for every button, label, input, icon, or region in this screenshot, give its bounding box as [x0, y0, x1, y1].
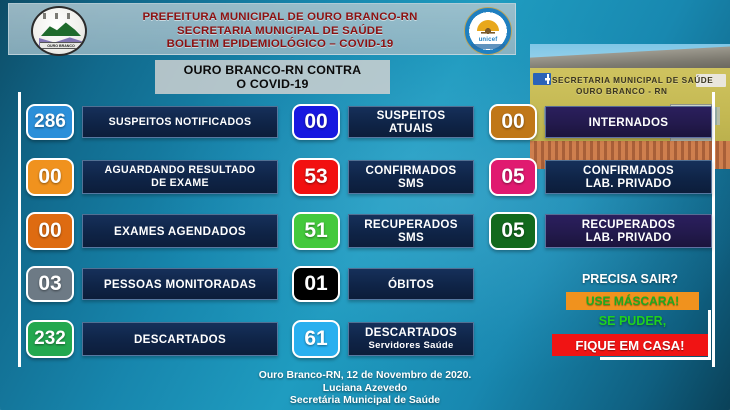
stat-label-plate: CONFIRMADOSLAB. PRIVADO	[545, 160, 712, 194]
crest-motto-banner: OURO BRANCO	[40, 42, 82, 49]
stat-value-badge: 53	[292, 158, 340, 196]
crest-hill-shape	[41, 21, 81, 36]
frame-left-edge	[18, 92, 21, 367]
footer-author-role: Secretária Municipal de Saúde	[150, 395, 580, 408]
stat-label-line2: Servidores Saúde	[368, 339, 453, 352]
stat-label-plate: CONFIRMADOSSMS	[348, 160, 474, 194]
stat-label-line2: LAB. PRIVADO	[586, 177, 672, 190]
subtitle-line-1: OURO BRANCO-RN CONTRA	[155, 63, 390, 77]
stat-label-line1: PESSOAS MONITORADAS	[104, 278, 256, 291]
stat-label-plate: EXAMES AGENDADOS	[82, 214, 278, 248]
unicef-subtext-bar	[471, 44, 505, 49]
stat-label-line1: AGUARDANDO RESULTADO	[105, 164, 256, 177]
stat-label-line1: CONFIRMADOS	[366, 164, 457, 177]
stat-label-plate: PESSOAS MONITORADAS	[82, 268, 278, 300]
frame-right-edge	[712, 92, 715, 367]
stat-label-plate: SUSPEITOS NOTIFICADOS	[82, 106, 278, 138]
stat-label-plate: RECUPERADOSLAB. PRIVADO	[545, 214, 712, 248]
stat-label-line1: RECUPERADOS	[364, 218, 458, 231]
stat-value-badge: 00	[292, 104, 340, 140]
stat-label-plate: DESCARTADOSServidores Saúde	[348, 322, 474, 356]
stat-label-line1: ÓBITOS	[388, 278, 434, 291]
header-bar: OURO BRANCO PREFEITURA MUNICIPAL DE OURO…	[8, 3, 516, 55]
stat-label-line2: SMS	[398, 231, 424, 244]
stat-label-line1: SUSPEITOS	[377, 109, 446, 122]
stat-value-badge: 01	[292, 266, 340, 302]
stat-label-plate: SUSPEITOSATUAIS	[348, 106, 474, 138]
stat-value-badge: 05	[489, 158, 537, 196]
crest-dots	[43, 13, 79, 19]
stat-value-badge: 05	[489, 212, 537, 250]
stat-label-plate: RECUPERADOSSMS	[348, 214, 474, 248]
covid-bulletin-poster: SECRETARIA MUNICIPAL DE SAÚDE OURO BRANC…	[0, 0, 730, 410]
stat-label-line1: DESCARTADOS	[134, 333, 226, 346]
stat-value-badge: 232	[26, 320, 74, 358]
stat-label-plate: ÓBITOS	[348, 268, 474, 300]
stat-value-badge: 00	[26, 158, 74, 196]
subtitle-line-2: O COVID-19	[155, 77, 390, 91]
stat-label-line1: DESCARTADOS	[365, 326, 457, 339]
stat-label-line2: ATUAIS	[389, 122, 433, 135]
stat-label-line1: INTERNADOS	[589, 116, 669, 129]
message-if-you-can: SE PUDER,	[560, 314, 705, 328]
unicef-logo-icon: unicef	[464, 7, 512, 55]
stat-label-line1: SUSPEITOS NOTIFICADOS	[109, 116, 252, 129]
footer-author-name: Luciana Azevedo	[150, 383, 580, 396]
stat-value-badge: 00	[489, 104, 537, 140]
stat-value-badge: 61	[292, 320, 340, 358]
stat-label-plate: DESCARTADOS	[82, 322, 278, 356]
stat-label-line1: EXAMES AGENDADOS	[114, 225, 246, 238]
header-line-2: SECRETARIA MUNICIPAL DE SAÚDE	[105, 25, 455, 39]
stat-label-line1: RECUPERADOS	[582, 218, 676, 231]
building-sign-line2: OURO BRANCO - RN	[576, 87, 667, 96]
stat-label-line2: SMS	[398, 177, 424, 190]
sus-logo-icon	[533, 73, 551, 85]
stat-value-badge: 00	[26, 212, 74, 250]
footer: Ouro Branco-RN, 12 de Novembro de 2020. …	[150, 370, 580, 408]
message-frame-horizontal	[600, 357, 711, 360]
footer-date: Ouro Branco-RN, 12 de Novembro de 2020.	[150, 370, 580, 383]
campaign-subtitle-band: OURO BRANCO-RN CONTRA O COVID-19	[155, 60, 390, 94]
message-use-mask: USE MÁSCARA!	[566, 292, 699, 310]
stat-label-line2: DE EXAME	[151, 177, 209, 190]
building-sign-line1: SECRETARIA MUNICIPAL DE SAÚDE	[552, 76, 713, 85]
stat-value-badge: 286	[26, 104, 74, 140]
stat-label-line1: CONFIRMADOS	[583, 164, 674, 177]
message-title: PRECISA SAIR?	[545, 272, 715, 286]
header-line-1: PREFEITURA MUNICIPAL DE OURO BRANCO-RN	[105, 11, 455, 25]
stat-value-badge: 03	[26, 266, 74, 302]
unicef-wordmark: unicef	[465, 37, 511, 43]
message-frame-vertical	[708, 310, 711, 360]
header-titles: PREFEITURA MUNICIPAL DE OURO BRANCO-RN S…	[105, 11, 455, 52]
municipal-crest-icon: OURO BRANCO	[31, 6, 87, 56]
stat-label-plate: AGUARDANDO RESULTADODE EXAME	[82, 160, 278, 194]
stat-label-line2: LAB. PRIVADO	[586, 231, 672, 244]
stat-value-badge: 51	[292, 212, 340, 250]
message-stay-home: FIQUE EM CASA!	[552, 334, 708, 356]
stat-label-plate: INTERNADOS	[545, 106, 712, 138]
header-line-3: BOLETIM EPIDEMIOLÓGICO – COVID-19	[105, 38, 455, 52]
